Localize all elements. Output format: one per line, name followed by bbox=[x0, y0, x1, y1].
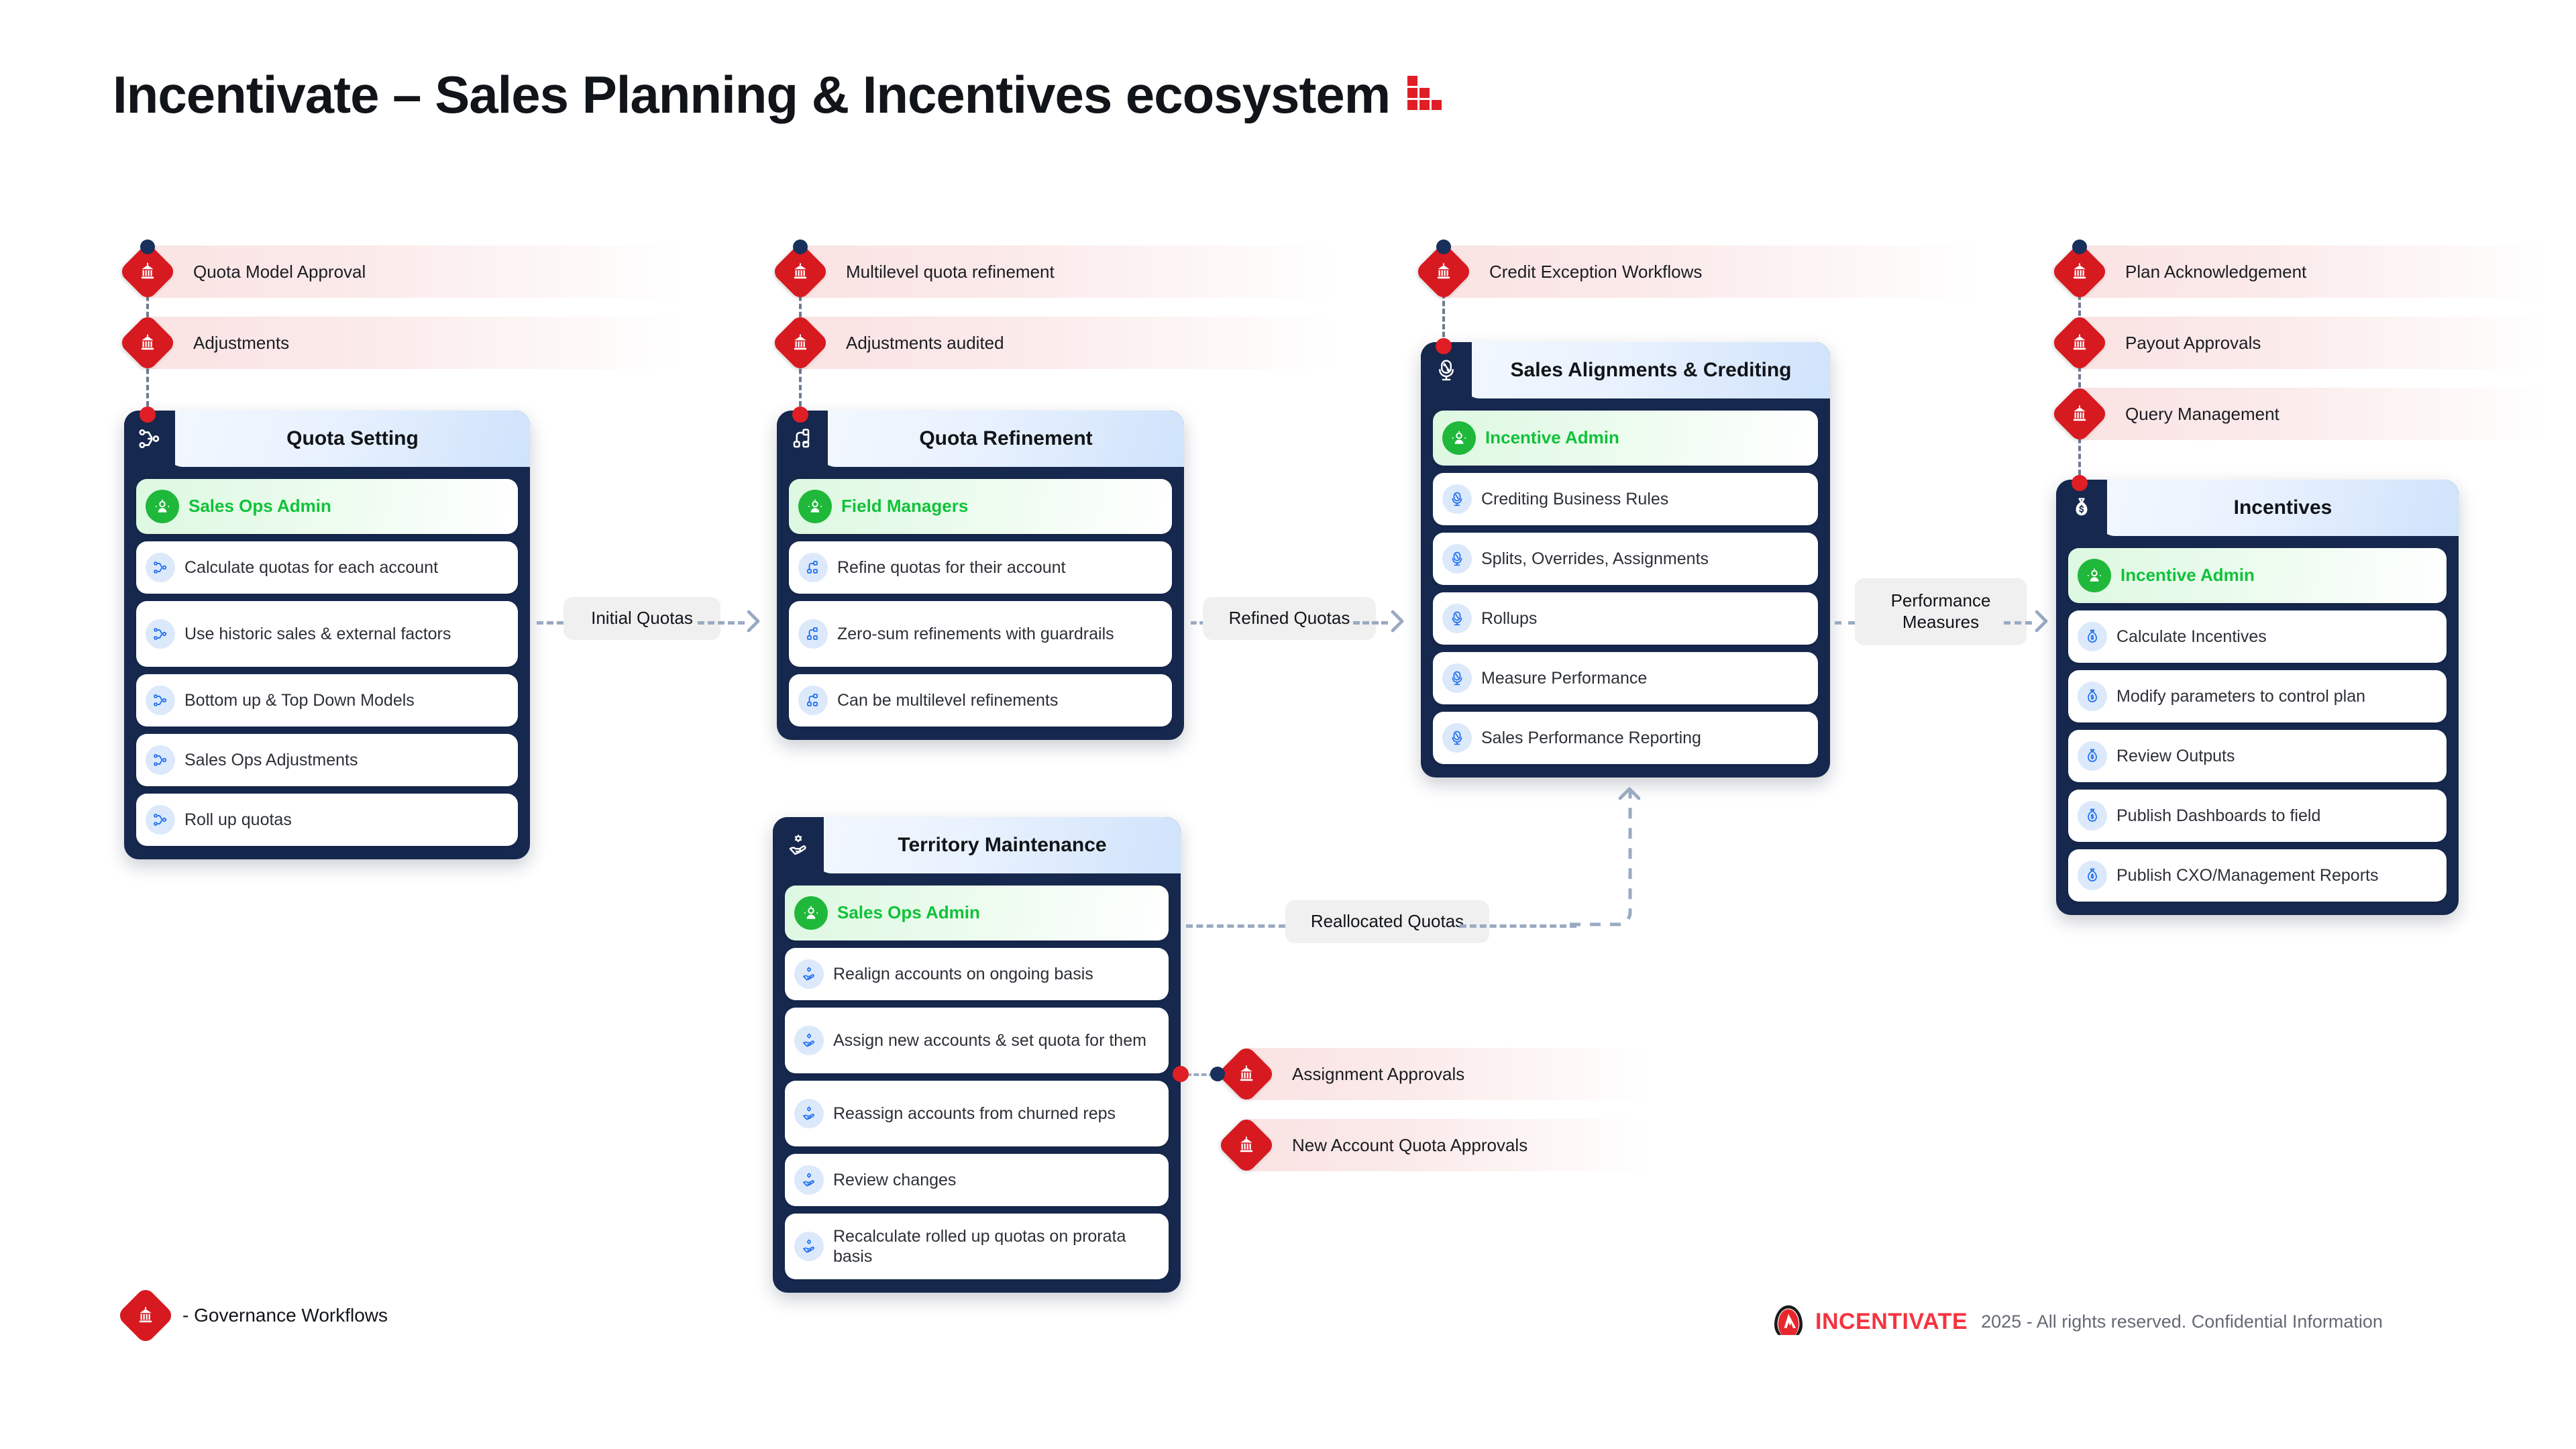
hand-gear-icon bbox=[794, 959, 824, 989]
footer-brand: INCENTIVATE bbox=[1815, 1309, 1968, 1335]
list-item-label: Reassign accounts from churned reps bbox=[833, 1104, 1116, 1124]
list-item-label: Sales Performance Reporting bbox=[1481, 728, 1701, 749]
list-item[interactable]: Calculate quotas for each account bbox=[136, 541, 518, 594]
card-quota-refinement[interactable]: Quota Refinement Field Managers Refine q… bbox=[777, 411, 1184, 740]
list-item[interactable]: Realign accounts on ongoing basis bbox=[785, 948, 1169, 1000]
card-body: Incentive Admin Calculate Incentives Mod… bbox=[2056, 536, 2459, 915]
list-item[interactable]: Measure Performance bbox=[1433, 652, 1818, 704]
list-item-label: Recalculate rolled up quotas on prorata … bbox=[833, 1226, 1158, 1267]
governance-label: Multilevel quota refinement bbox=[846, 262, 1055, 282]
governance-badge[interactable]: Adjustments bbox=[148, 317, 684, 369]
connector-line bbox=[1835, 621, 1855, 625]
list-item-label: Zero-sum refinements with guardrails bbox=[837, 624, 1114, 645]
hand-gear-icon bbox=[794, 1165, 824, 1195]
list-item-label: Review Outputs bbox=[2116, 746, 2235, 767]
card-body: Sales Ops Admin Realign accounts on ongo… bbox=[773, 873, 1181, 1293]
list-item[interactable]: Rollups bbox=[1433, 592, 1818, 645]
card-body: Sales Ops Admin Calculate quotas for eac… bbox=[124, 467, 530, 859]
user-role-icon bbox=[794, 896, 828, 930]
user-role-icon bbox=[2078, 559, 2111, 592]
governance-badge[interactable]: Plan Acknowledgement bbox=[2080, 246, 2549, 298]
arrow-right-icon bbox=[2025, 605, 2057, 637]
list-item[interactable]: Crediting Business Rules bbox=[1433, 473, 1818, 525]
governance-badge[interactable]: Query Management bbox=[2080, 388, 2549, 440]
governance-badge[interactable]: Assignment Approvals bbox=[1246, 1048, 1649, 1100]
governance-label: Quota Model Approval bbox=[193, 262, 366, 282]
list-item-label: Realign accounts on ongoing basis bbox=[833, 964, 1093, 985]
card-header: Incentives bbox=[2056, 480, 2459, 536]
list-item-label: Splits, Overrides, Assignments bbox=[1481, 549, 1709, 570]
arrow-up-icon bbox=[1613, 778, 1646, 810]
governance-label: New Account Quota Approvals bbox=[1292, 1135, 1527, 1156]
list-item[interactable]: Assign new accounts & set quota for them bbox=[785, 1008, 1169, 1073]
list-item[interactable]: Recalculate rolled up quotas on prorata … bbox=[785, 1214, 1169, 1279]
hand-gear-icon bbox=[773, 817, 824, 873]
legend: - Governance Workflows bbox=[125, 1295, 388, 1336]
role-label: Field Managers bbox=[841, 496, 968, 517]
bank-icon bbox=[2050, 313, 2109, 372]
list-item-label: Bottom up & Top Down Models bbox=[184, 690, 415, 711]
connector-label-reallocated-quotas: Reallocated Quotas bbox=[1285, 900, 1489, 943]
money-bag-icon bbox=[2078, 861, 2107, 890]
quota-network-icon bbox=[146, 619, 175, 649]
list-item-label: Roll up quotas bbox=[184, 810, 292, 830]
quota-network-icon bbox=[146, 805, 175, 835]
page-title-text: Incentivate – Sales Planning & Incentive… bbox=[113, 64, 1390, 125]
legend-label: - Governance Workflows bbox=[182, 1305, 388, 1326]
list-item[interactable]: Refine quotas for their account bbox=[789, 541, 1172, 594]
list-item-label: Rollups bbox=[1481, 608, 1537, 629]
list-item-label: Publish Dashboards to field bbox=[2116, 806, 2320, 826]
quota-network-icon bbox=[146, 553, 175, 582]
crediting-percent-icon bbox=[1442, 544, 1472, 574]
card-title-wrap: Quota Setting bbox=[166, 411, 530, 467]
governance-anchor-dot bbox=[793, 239, 808, 254]
card-title: Incentives bbox=[2234, 496, 2332, 519]
list-item[interactable]: Sales Ops Adjustments bbox=[136, 734, 518, 786]
role-row[interactable]: Sales Ops Admin bbox=[785, 885, 1169, 941]
money-bag-icon bbox=[2078, 622, 2107, 651]
refinement-flow-icon bbox=[798, 686, 828, 715]
list-item[interactable]: Publish CXO/Management Reports bbox=[2068, 849, 2447, 902]
role-row[interactable]: Incentive Admin bbox=[2068, 548, 2447, 603]
user-role-icon bbox=[798, 490, 832, 523]
role-label: Incentive Admin bbox=[1485, 427, 1619, 449]
hand-gear-icon bbox=[794, 1026, 824, 1055]
list-item[interactable]: Modify parameters to control plan bbox=[2068, 670, 2447, 722]
card-title: Territory Maintenance bbox=[898, 834, 1106, 857]
list-item-label: Sales Ops Adjustments bbox=[184, 750, 358, 771]
card-title-wrap: Incentives bbox=[2098, 480, 2459, 536]
list-item-label: Assign new accounts & set quota for them bbox=[833, 1030, 1146, 1051]
list-item-label: Calculate Incentives bbox=[2116, 627, 2267, 647]
refinement-flow-icon bbox=[798, 619, 828, 649]
governance-badge[interactable]: Adjustments audited bbox=[800, 317, 1337, 369]
connector-line bbox=[1186, 924, 1285, 928]
card-title: Quota Refinement bbox=[919, 427, 1092, 450]
governance-badge[interactable]: New Account Quota Approvals bbox=[1246, 1119, 1649, 1171]
list-item-label: Modify parameters to control plan bbox=[2116, 686, 2365, 707]
governance-label: Credit Exception Workflows bbox=[1489, 262, 1702, 282]
footer: INCENTIVATE 2025 - All rights reserved. … bbox=[1770, 1301, 2383, 1342]
page-title: Incentivate – Sales Planning & Incentive… bbox=[113, 64, 1445, 125]
incentivate-arch-logo-icon bbox=[1770, 1301, 1807, 1342]
hand-gear-icon bbox=[794, 1099, 824, 1128]
role-row[interactable]: Field Managers bbox=[789, 479, 1172, 534]
money-bag-icon bbox=[2078, 741, 2107, 771]
card-title-wrap: Sales Alignments & Crediting bbox=[1462, 342, 1830, 398]
governance-badge[interactable]: Quota Model Approval bbox=[148, 246, 684, 298]
money-bag-icon bbox=[2078, 682, 2107, 711]
governance-endpoint-dot bbox=[1436, 338, 1452, 354]
connector-label-performance-measures: Performance Measures bbox=[1855, 578, 2027, 645]
list-item-label: Can be multilevel refinements bbox=[837, 690, 1058, 711]
governance-badge[interactable]: Payout Approvals bbox=[2080, 317, 2549, 369]
money-bag-icon bbox=[2078, 801, 2107, 830]
governance-label: Assignment Approvals bbox=[1292, 1064, 1464, 1085]
quota-network-icon bbox=[146, 745, 175, 775]
crediting-percent-icon bbox=[1442, 484, 1472, 514]
bank-icon bbox=[116, 1286, 175, 1345]
governance-endpoint-dot bbox=[792, 407, 808, 423]
user-role-icon bbox=[146, 490, 179, 523]
list-item-label: Calculate quotas for each account bbox=[184, 557, 438, 578]
list-item[interactable]: Use historic sales & external factors bbox=[136, 601, 518, 667]
crediting-percent-icon bbox=[1442, 663, 1472, 693]
bank-icon bbox=[1217, 1116, 1276, 1175]
list-item[interactable]: Calculate Incentives bbox=[2068, 610, 2447, 663]
crediting-percent-icon bbox=[1442, 723, 1472, 753]
arrow-right-icon bbox=[1381, 605, 1413, 637]
connector-line bbox=[1460, 924, 1576, 928]
diagram-canvas: Incentivate – Sales Planning & Incentive… bbox=[0, 0, 2576, 1449]
card-header: Quota Refinement bbox=[777, 411, 1184, 467]
governance-label: Adjustments bbox=[193, 333, 289, 354]
list-item[interactable]: Can be multilevel refinements bbox=[789, 674, 1172, 727]
arrow-right-icon bbox=[737, 605, 769, 637]
refinement-flow-icon bbox=[798, 553, 828, 582]
governance-badge[interactable]: Credit Exception Workflows bbox=[1444, 246, 1980, 298]
governance-label: Query Management bbox=[2125, 404, 2279, 425]
list-item-label: Refine quotas for their account bbox=[837, 557, 1065, 578]
card-body: Field Managers Refine quotas for their a… bbox=[777, 467, 1184, 740]
list-item[interactable]: Splits, Overrides, Assignments bbox=[1433, 533, 1818, 585]
governance-anchor-dot bbox=[1436, 239, 1451, 254]
list-item[interactable]: Publish Dashboards to field bbox=[2068, 790, 2447, 842]
card-sales-alignments-crediting[interactable]: Sales Alignments & Crediting Incentive A… bbox=[1421, 342, 1830, 777]
list-item[interactable]: Bottom up & Top Down Models bbox=[136, 674, 518, 727]
list-item[interactable]: Sales Performance Reporting bbox=[1433, 712, 1818, 764]
user-role-icon bbox=[1442, 421, 1476, 455]
list-item-label: Publish CXO/Management Reports bbox=[2116, 865, 2378, 886]
list-item[interactable]: Review changes bbox=[785, 1154, 1169, 1206]
card-header: Territory Maintenance bbox=[773, 817, 1181, 873]
connector-label-initial-quotas: Initial Quotas bbox=[563, 597, 720, 640]
card-title: Quota Setting bbox=[286, 427, 419, 450]
crediting-percent-icon bbox=[1442, 604, 1472, 633]
governance-endpoint-dot bbox=[140, 407, 156, 423]
card-title-wrap: Territory Maintenance bbox=[814, 817, 1181, 873]
list-item-label: Measure Performance bbox=[1481, 668, 1647, 689]
list-item[interactable]: Zero-sum refinements with guardrails bbox=[789, 601, 1172, 667]
role-row[interactable]: Incentive Admin bbox=[1433, 411, 1818, 466]
role-row[interactable]: Sales Ops Admin bbox=[136, 479, 518, 534]
bank-icon bbox=[2050, 384, 2109, 443]
card-territory-maintenance[interactable]: Territory Maintenance Sales Ops Admin Re… bbox=[773, 817, 1181, 1293]
bank-icon bbox=[118, 313, 177, 372]
hand-gear-icon bbox=[794, 1232, 824, 1261]
quota-network-icon bbox=[146, 686, 175, 715]
bank-icon bbox=[1217, 1044, 1276, 1104]
governance-endpoint-dot bbox=[1173, 1066, 1189, 1082]
governance-anchor-dot bbox=[140, 239, 155, 254]
list-item-label: Use historic sales & external factors bbox=[184, 624, 451, 645]
governance-label: Adjustments audited bbox=[846, 333, 1004, 354]
role-label: Sales Ops Admin bbox=[189, 496, 331, 517]
card-title-wrap: Quota Refinement bbox=[818, 411, 1184, 467]
governance-anchor-dot bbox=[1210, 1067, 1225, 1081]
list-item[interactable]: Review Outputs bbox=[2068, 730, 2447, 782]
card-header: Quota Setting bbox=[124, 411, 530, 467]
connector-line bbox=[537, 621, 563, 625]
card-header: Sales Alignments & Crediting bbox=[1421, 342, 1830, 398]
governance-label: Plan Acknowledgement bbox=[2125, 262, 2306, 282]
card-quota-setting[interactable]: Quota Setting Sales Ops Admin Calculate … bbox=[124, 411, 530, 859]
connector-elbow-line bbox=[1570, 792, 1650, 928]
governance-badge[interactable]: Multilevel quota refinement bbox=[800, 246, 1337, 298]
card-incentives[interactable]: Incentives Incentive Admin Calculate Inc… bbox=[2056, 480, 2459, 915]
card-body: Incentive Admin Crediting Business Rules… bbox=[1421, 398, 1830, 777]
staircase-blocks-logo-icon bbox=[1407, 76, 1445, 111]
role-label: Sales Ops Admin bbox=[837, 902, 980, 924]
bank-icon bbox=[771, 313, 830, 372]
list-item[interactable]: Roll up quotas bbox=[136, 794, 518, 846]
list-item-label: Review changes bbox=[833, 1170, 956, 1191]
connector-label-refined-quotas: Refined Quotas bbox=[1203, 597, 1376, 640]
governance-endpoint-dot bbox=[2072, 475, 2088, 491]
list-item[interactable]: Reassign accounts from churned reps bbox=[785, 1081, 1169, 1146]
role-label: Incentive Admin bbox=[2121, 565, 2255, 586]
governance-anchor-dot bbox=[2072, 239, 2087, 254]
list-item-label: Crediting Business Rules bbox=[1481, 489, 1668, 510]
footer-copyright: 2025 - All rights reserved. Confidential… bbox=[1981, 1311, 2383, 1332]
governance-label: Payout Approvals bbox=[2125, 333, 2261, 354]
card-title: Sales Alignments & Crediting bbox=[1511, 359, 1792, 382]
